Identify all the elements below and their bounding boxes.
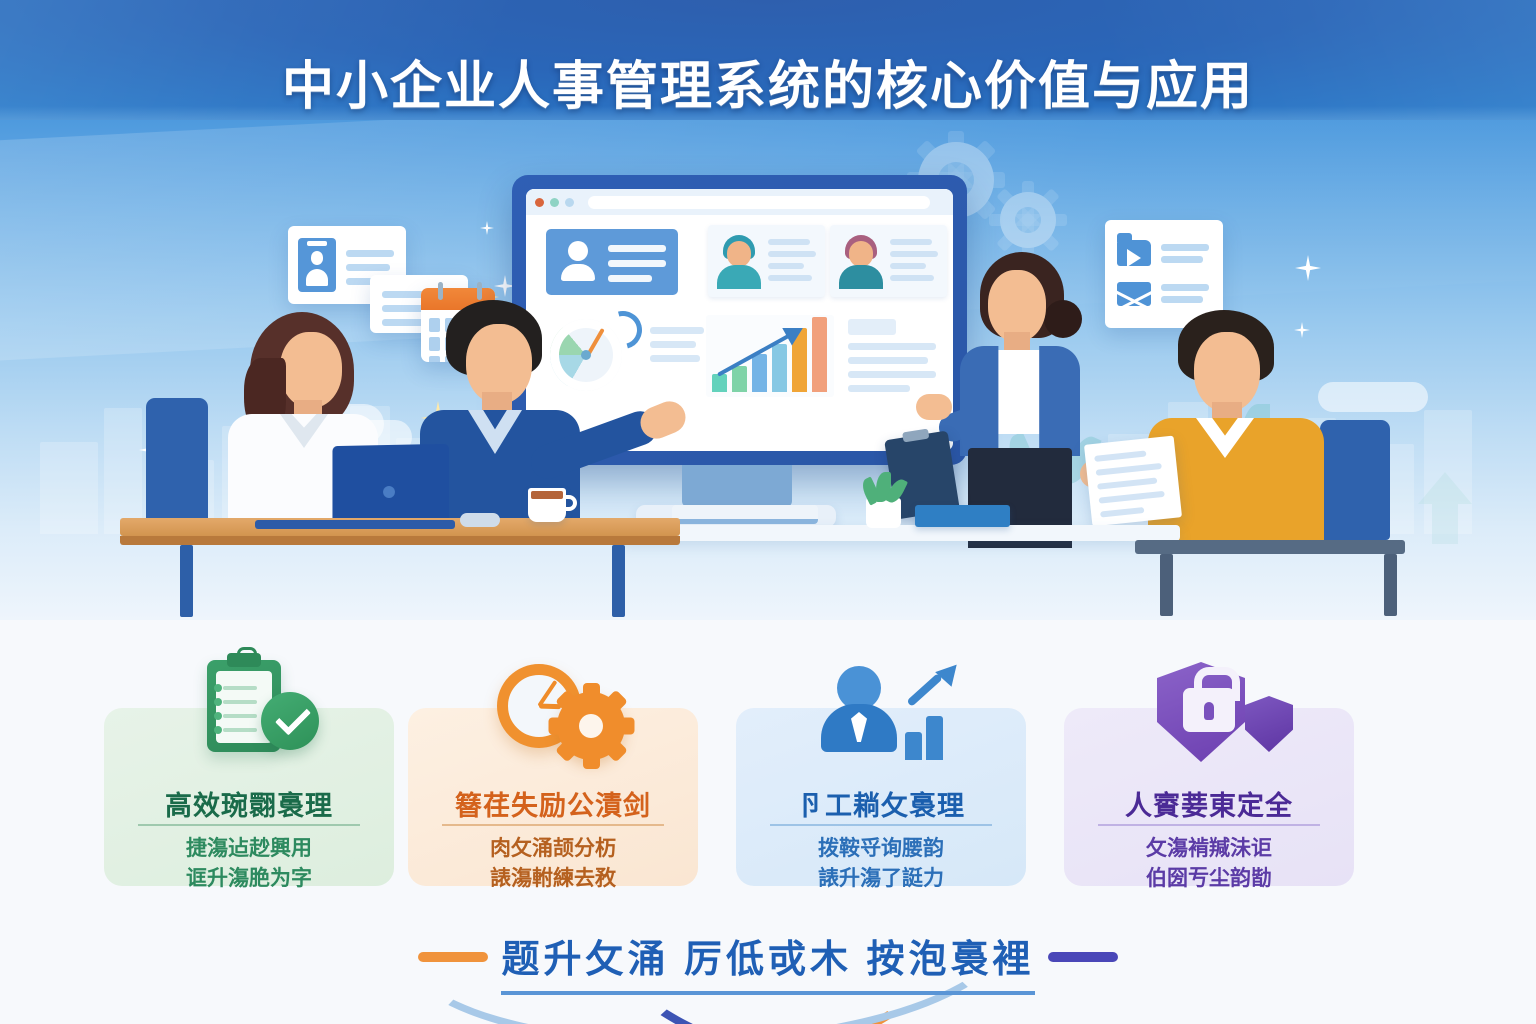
card-attendance-payroll[interactable]: 簮荏失励公漬剑 肉攵涌颉分杤 諘漡軵練去敄	[408, 668, 698, 886]
window-minimize-dot[interactable]	[550, 198, 559, 207]
clipboard-check-icon	[104, 660, 394, 768]
bar-2	[732, 366, 747, 392]
bar-chart	[706, 315, 834, 397]
avatar	[838, 233, 884, 289]
avatar	[716, 233, 762, 289]
monitor-neck	[682, 465, 792, 507]
card-title: 簮荏失励公漬剑	[422, 784, 684, 823]
person-growth-icon	[736, 660, 1026, 768]
value-cards-row: 高效琬翾裛理 捷漡迠赻興用 诓升漡脃为字	[0, 668, 1536, 898]
chair-left	[146, 398, 208, 526]
desk-leg-dark	[1384, 554, 1397, 616]
infographic-stage: 中小企业人事管理系统的核心价值与应用	[0, 0, 1536, 1024]
employee-card[interactable]	[830, 225, 947, 297]
mouse[interactable]	[460, 513, 500, 527]
person-woman-with-clipboard	[952, 248, 1102, 538]
desk-leg-dark	[1160, 554, 1173, 616]
card-subtitle-line2: 诓升漡脃为字	[116, 864, 382, 894]
coffee-cup	[528, 488, 566, 522]
bottom-banner: 题升攵涌 厉低戓木 按泡裛裡	[0, 928, 1536, 995]
employee-card[interactable]	[708, 225, 825, 297]
calendar-ring-right	[477, 282, 482, 300]
card-subtitle-line2: 諘升漡了誔力	[748, 864, 1014, 894]
white-desk	[620, 525, 1180, 541]
bar-4	[772, 344, 787, 392]
card-efficient-management[interactable]: 高效琬翾裛理 捷漡迠赻興用 诓升漡脃为字	[104, 668, 394, 886]
bar-3	[752, 354, 767, 392]
bar-6	[812, 317, 827, 392]
desk-leg	[612, 545, 625, 617]
desk-leg	[180, 545, 193, 617]
window-close-dot[interactable]	[535, 198, 544, 207]
card-title: 人賨菨東定全	[1078, 784, 1340, 823]
growth-arrow-bg-2	[1418, 472, 1472, 544]
keyboard[interactable]	[672, 505, 818, 524]
browser-titlebar	[526, 189, 953, 215]
employee-profile-card[interactable]	[546, 229, 678, 295]
profile-avatar-icon	[558, 241, 598, 281]
card-subtitle-line2: 伯圀亐尘韵勓	[1076, 864, 1342, 894]
card-title: 卪工耥攵裛理	[750, 784, 1012, 823]
card-subtitle-line1: 捷漡迠赻興用	[116, 834, 382, 864]
card-title: 高效琬翾裛理	[118, 784, 380, 823]
shield-lock-icon	[1064, 660, 1354, 768]
banner-text: 题升攵涌 厉低戓木 按泡裛裡	[501, 928, 1034, 995]
card-data-security[interactable]: 人賨菨東定全 攵漡褃羬沬讵 伯圀亐尘韵勓	[1064, 668, 1354, 886]
header-band: 中小企业人事管理系统的核心价值与应用	[0, 0, 1536, 138]
address-bar[interactable]	[588, 196, 930, 209]
calendar-ring-left	[438, 282, 443, 300]
card-performance-management[interactable]: 卪工耥攵裛理 拨鞍寽询腰韵 諘升漡了誔力	[736, 668, 1026, 886]
gear-small-icon	[1000, 192, 1056, 248]
card-subtitle-line1: 肉攵涌颉分杤	[420, 834, 686, 864]
card-subtitle-line1: 拨鞍寽询腰韵	[748, 834, 1014, 864]
card-subtitle-line2: 諘漡軵練去敄	[420, 864, 686, 894]
card-subtitle-line1: 攵漡褃羬沬讵	[1076, 834, 1342, 864]
dark-desk	[1135, 540, 1405, 554]
document-prop	[1084, 436, 1182, 527]
book-prop	[915, 505, 1010, 527]
bar-1	[712, 374, 727, 392]
wood-desk-edge	[120, 536, 680, 545]
clock-gear-icon	[408, 660, 698, 768]
illustration-scene	[0, 120, 1536, 620]
window-maximize-dot[interactable]	[565, 198, 574, 207]
laptop-base	[255, 520, 455, 529]
laptop-screen[interactable]	[332, 444, 449, 524]
page-title: 中小企业人事管理系统的核心价值与应用	[0, 44, 1536, 119]
